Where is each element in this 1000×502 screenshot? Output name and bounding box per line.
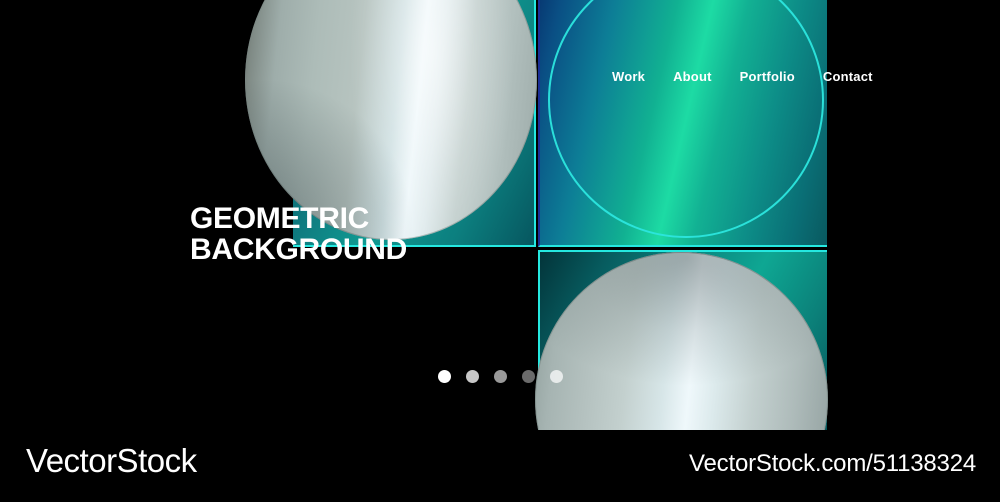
geometric-artwork: Work About Portfolio Contact GEOMETRIC B… [0,0,1000,430]
headline: GEOMETRIC BACKGROUND [190,204,407,265]
headline-line-2: BACKGROUND [190,235,407,266]
brand-logo: VectorStock [26,442,197,480]
nav-item-work[interactable]: Work [612,69,645,84]
pagination-dots [438,370,563,383]
image-canvas: Work About Portfolio Contact GEOMETRIC B… [0,0,1000,502]
pagination-dot-2[interactable] [466,370,479,383]
headline-line-1: GEOMETRIC [190,204,407,235]
brand-url: VectorStock.com/51138324 [689,450,976,478]
nav-item-portfolio[interactable]: Portfolio [740,69,795,84]
pagination-dot-4[interactable] [522,370,535,383]
pagination-dot-5[interactable] [550,370,563,383]
nav-item-contact[interactable]: Contact [823,69,873,84]
pagination-dot-1[interactable] [438,370,451,383]
pagination-dot-3[interactable] [494,370,507,383]
top-navigation: Work About Portfolio Contact [612,69,873,84]
nav-item-about[interactable]: About [673,69,712,84]
